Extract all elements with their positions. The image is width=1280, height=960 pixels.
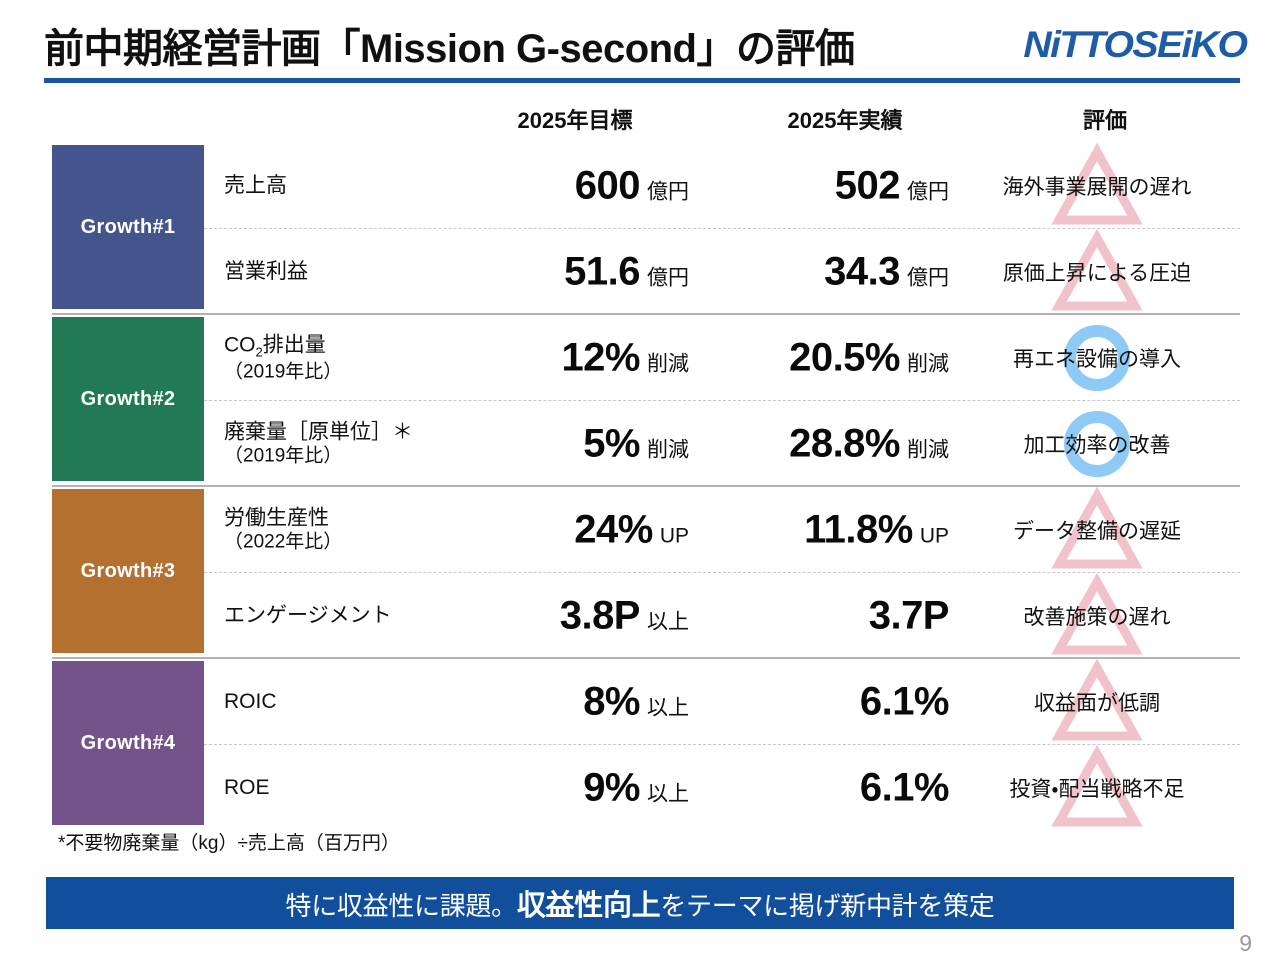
page-title: 前中期経営計画「Mission G-second」の評価 [44, 16, 855, 74]
target-value-cell: 5%削減 [429, 421, 689, 466]
growth-block-label: Growth#4 [81, 732, 176, 755]
growth-block-label: Growth#3 [81, 560, 176, 583]
evaluation-cell: 再エネ設備の導入 [964, 315, 1230, 400]
actual-value-cell: 28.8%削減 [699, 421, 949, 466]
evaluation-text: 加工効率の改善 [1024, 429, 1171, 459]
kpi-label: ROIC [224, 689, 277, 715]
kpi-label-main: ROIC [224, 690, 277, 713]
kpi-row-group: 労働生産性（2022年比）24%UP11.8%UPデータ整備の遅延エンゲージメン… [204, 487, 1240, 657]
target-value: 9% [583, 765, 640, 809]
summary-banner: 特に収益性に課題。収益性向上をテーマに掲げ新中計を策定 [46, 877, 1234, 929]
evaluation-cell: 投資・配当戦略不足 [964, 745, 1230, 830]
target-unit: 削減 [647, 352, 689, 375]
growth-block-label: Growth#1 [81, 216, 176, 239]
table-row: CO2排出量（2019年比）12%削減20.5%削減再エネ設備の導入 [204, 315, 1240, 400]
actual-unit: 億円 [907, 180, 949, 203]
table-row: 廃棄量［原単位］＊（2019年比）5%削減28.8%削減加工効率の改善 [204, 400, 1240, 486]
target-value-cell: 24%UP [429, 507, 689, 552]
kpi-row-group: ROIC8%以上6.1%収益面が低調ROE9%以上6.1%投資・配当戦略不足 [204, 659, 1240, 829]
kpi-label: 営業利益 [224, 259, 308, 285]
table-row: ROIC8%以上6.1%収益面が低調 [204, 659, 1240, 744]
target-value-cell: 3.8P以上 [429, 593, 689, 638]
kpi-label-main: 労働生産性 [224, 506, 329, 529]
banner-tail: をテーマに掲げ新中計を策定 [660, 891, 994, 921]
kpi-label: ROE [224, 775, 270, 801]
kpi-label-main: 営業利益 [224, 260, 308, 283]
target-value-cell: 9%以上 [429, 765, 689, 810]
kpi-section: Growth#4ROIC8%以上6.1%収益面が低調ROE9%以上6.1%投資・… [52, 657, 1240, 829]
kpi-label-main: 廃棄量［原単位］＊ [224, 420, 413, 443]
actual-value: 6.1% [860, 679, 949, 723]
column-header-actual: 2025年実績 [725, 103, 965, 135]
table-row: 営業利益51.6億円34.3億円原価上昇による圧迫 [204, 228, 1240, 314]
kpi-row-group: 売上高600億円502億円海外事業展開の遅れ営業利益51.6億円34.3億円原価… [204, 143, 1240, 313]
evaluation-cell: 改善施策の遅れ [964, 573, 1230, 658]
evaluation-cell: データ整備の遅延 [964, 487, 1230, 572]
actual-value: 20.5% [789, 335, 900, 379]
growth-block-1: Growth#1 [52, 145, 204, 309]
kpi-label: 労働生産性（2022年比） [224, 505, 342, 554]
target-value: 5% [583, 421, 640, 465]
target-value: 600 [575, 163, 640, 207]
actual-value-cell: 6.1% [699, 765, 949, 810]
target-value-cell: 8%以上 [429, 679, 689, 724]
target-value: 24% [574, 507, 653, 551]
kpi-label-main: エンゲージメント [224, 604, 392, 627]
actual-value-cell: 11.8%UP [699, 507, 949, 552]
target-unit: 削減 [647, 438, 689, 461]
slide-header: 前中期経営計画「Mission G-second」の評価 NiTTOSEiKO [0, 0, 1280, 86]
growth-block-label: Growth#2 [81, 388, 176, 411]
target-value-cell: 51.6億円 [429, 249, 689, 294]
kpi-label: 売上高 [224, 173, 287, 199]
actual-unit: 削減 [907, 438, 949, 461]
growth-block-4: Growth#4 [52, 661, 204, 825]
kpi-label: エンゲージメント [224, 603, 392, 629]
growth-block-2: Growth#2 [52, 317, 204, 481]
actual-unit: 削減 [907, 352, 949, 375]
actual-value: 502 [835, 163, 900, 207]
company-logo: NiTTOSEiKO [1023, 24, 1246, 66]
target-value: 51.6 [564, 249, 640, 293]
table-row: エンゲージメント3.8P以上3.7P改善施策の遅れ [204, 572, 1240, 658]
target-unit: 億円 [647, 180, 689, 203]
footnote: *不要物廃棄量（kg）÷売上高（百万円） [58, 828, 400, 855]
target-unit: UP [660, 524, 689, 547]
actual-value: 11.8% [804, 507, 913, 551]
summary-banner-text: 特に収益性に課題。収益性向上をテーマに掲げ新中計を策定 [286, 882, 995, 924]
table-row: 労働生産性（2022年比）24%UP11.8%UPデータ整備の遅延 [204, 487, 1240, 572]
evaluation-text: 投資・配当戦略不足 [1009, 773, 1184, 803]
kpi-label-main: CO2排出量 [224, 333, 326, 356]
title-divider [44, 78, 1240, 83]
actual-value-cell: 6.1% [699, 679, 949, 724]
banner-emphasis: 収益性向上 [517, 890, 661, 922]
kpi-table: Growth#1売上高600億円502億円海外事業展開の遅れ営業利益51.6億円… [52, 143, 1240, 829]
target-value: 8% [583, 679, 640, 723]
kpi-label-sub: （2022年比） [224, 531, 342, 554]
actual-value-cell: 3.7P [699, 593, 949, 638]
kpi-label-sub: （2019年比） [224, 445, 413, 468]
kpi-row-group: CO2排出量（2019年比）12%削減20.5%削減再エネ設備の導入廃棄量［原単… [204, 315, 1240, 485]
actual-value-cell: 20.5%削減 [699, 335, 949, 380]
target-unit: 以上 [647, 610, 689, 633]
actual-value: 3.7P [869, 593, 949, 637]
target-unit: 以上 [647, 696, 689, 719]
growth-block-3: Growth#3 [52, 489, 204, 653]
evaluation-cell: 原価上昇による圧迫 [964, 229, 1230, 314]
actual-value: 34.3 [824, 249, 900, 293]
actual-value-cell: 502億円 [699, 163, 949, 208]
actual-unit: 億円 [907, 266, 949, 289]
actual-value: 6.1% [860, 765, 949, 809]
actual-unit: UP [920, 524, 949, 547]
evaluation-text: データ整備の遅延 [1013, 515, 1181, 545]
kpi-label-main: ROE [224, 776, 270, 799]
target-value-cell: 12%削減 [429, 335, 689, 380]
column-header-evaluation: 評価 [985, 103, 1225, 135]
kpi-section: Growth#2CO2排出量（2019年比）12%削減20.5%削減再エネ設備の… [52, 313, 1240, 485]
kpi-label: 廃棄量［原単位］＊（2019年比） [224, 419, 413, 468]
column-header-target: 2025年目標 [455, 103, 695, 135]
actual-value: 28.8% [789, 421, 900, 465]
kpi-section: Growth#3労働生産性（2022年比）24%UP11.8%UPデータ整備の遅… [52, 485, 1240, 657]
table-row: ROE9%以上6.1%投資・配当戦略不足 [204, 744, 1240, 830]
page-number: 9 [1239, 930, 1252, 957]
target-value-cell: 600億円 [429, 163, 689, 208]
kpi-section: Growth#1売上高600億円502億円海外事業展開の遅れ営業利益51.6億円… [52, 143, 1240, 313]
banner-lead: 特に収益性に課題。 [286, 891, 517, 921]
kpi-label-sub: （2019年比） [224, 360, 342, 383]
evaluation-cell: 加工効率の改善 [964, 401, 1230, 486]
kpi-label: CO2排出量（2019年比） [224, 332, 342, 383]
target-unit: 億円 [647, 266, 689, 289]
evaluation-text: 原価上昇による圧迫 [1003, 257, 1191, 287]
table-row: 売上高600億円502億円海外事業展開の遅れ [204, 143, 1240, 228]
evaluation-cell: 収益面が低調 [964, 659, 1230, 744]
evaluation-text: 改善施策の遅れ [1024, 601, 1171, 631]
kpi-label-main: 売上高 [224, 174, 287, 197]
target-unit: 以上 [647, 782, 689, 805]
target-value: 3.8P [560, 593, 640, 637]
evaluation-text: 海外事業展開の遅れ [1003, 171, 1192, 201]
evaluation-text: 再エネ設備の導入 [1013, 343, 1181, 373]
actual-value-cell: 34.3億円 [699, 249, 949, 294]
evaluation-cell: 海外事業展開の遅れ [964, 143, 1230, 228]
target-value: 12% [561, 335, 640, 379]
evaluation-text: 収益面が低調 [1034, 687, 1160, 717]
